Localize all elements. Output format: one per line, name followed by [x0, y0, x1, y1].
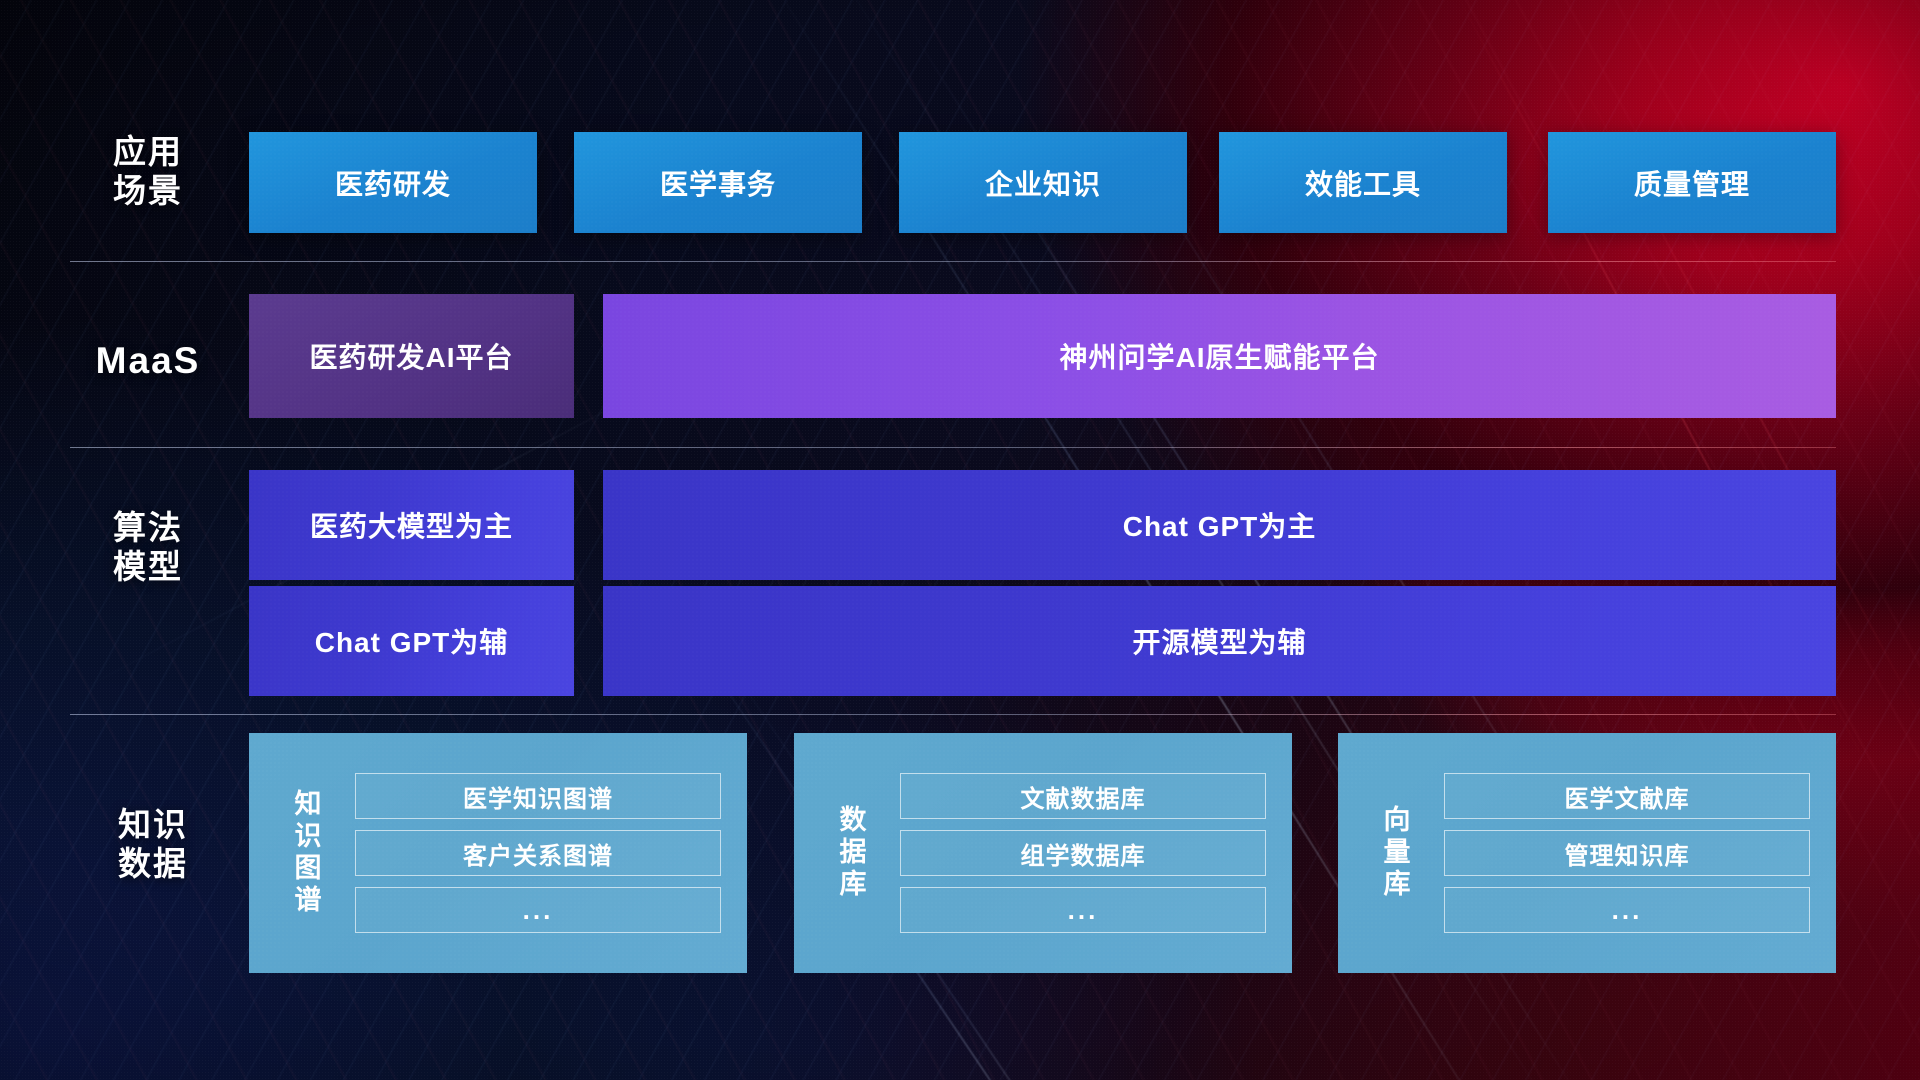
row-label-algorithm-models: 算法 模型: [78, 509, 218, 587]
knowledge-item[interactable]: 医学文献库: [1444, 773, 1810, 819]
app-box-pharma-rd[interactable]: 医药研发: [249, 132, 537, 233]
knowledge-item-more[interactable]: ...: [900, 887, 1266, 933]
knowledge-group-title-char: 据: [822, 837, 884, 869]
app-box-enterprise-knowledge[interactable]: 企业知识: [899, 132, 1187, 233]
algo-box-chatgpt-primary[interactable]: Chat GPT为主: [603, 470, 1836, 580]
app-box-label: 效能工具: [1305, 163, 1421, 203]
knowledge-group-item-list: 医学文献库 管理知识库 ...: [1428, 757, 1836, 949]
knowledge-item[interactable]: 管理知识库: [1444, 830, 1810, 876]
algo-box-opensource-model-secondary[interactable]: 开源模型为辅: [603, 586, 1836, 696]
app-box-efficiency-tools[interactable]: 效能工具: [1219, 132, 1507, 233]
row-label-maas: MaaS: [78, 339, 218, 383]
algo-box-label: 开源模型为辅: [1132, 621, 1306, 661]
knowledge-group-title-char: 向: [1366, 805, 1428, 837]
row-label-line-2: 模型: [78, 548, 218, 587]
app-box-medical-affairs[interactable]: 医学事务: [574, 132, 862, 233]
knowledge-group-knowledge-graph[interactable]: 知 识 图 谱 医学知识图谱 客户关系图谱 ...: [249, 733, 747, 973]
row-label-knowledge-data: 知识 数据: [78, 806, 228, 884]
knowledge-group-title-char: 量: [1366, 837, 1428, 869]
row-label-line-2: 场景: [78, 172, 218, 211]
knowledge-group-database[interactable]: 数 据 库 文献数据库 组学数据库 ...: [794, 733, 1292, 973]
divider-after-applications: [70, 261, 1836, 262]
row-label-line-1: 知识: [78, 806, 228, 845]
maas-box-label: 神州问学AI原生赋能平台: [1059, 336, 1379, 376]
row-label-line-2: 数据: [78, 845, 228, 884]
row-label-line-1: MaaS: [78, 339, 218, 383]
algo-box-chatgpt-secondary[interactable]: Chat GPT为辅: [249, 586, 574, 696]
app-box-quality-management[interactable]: 质量管理: [1548, 132, 1836, 233]
algo-box-label: 医药大模型为主: [310, 505, 513, 545]
app-box-label: 质量管理: [1634, 163, 1750, 203]
maas-box-label: 医药研发AI平台: [309, 336, 513, 376]
algo-box-label: Chat GPT为主: [1123, 505, 1317, 545]
app-box-label: 医药研发: [335, 163, 451, 203]
divider-after-algorithms: [70, 714, 1836, 715]
row-label-line-1: 算法: [78, 509, 218, 548]
knowledge-item[interactable]: 客户关系图谱: [355, 830, 721, 876]
knowledge-group-title-char: 谱: [277, 885, 339, 917]
knowledge-group-title-char: 识: [277, 821, 339, 853]
algo-box-label: Chat GPT为辅: [315, 621, 509, 661]
row-label-application-scenarios: 应用 场景: [78, 133, 218, 211]
knowledge-group-title-char: 图: [277, 853, 339, 885]
knowledge-item[interactable]: 医学知识图谱: [355, 773, 721, 819]
maas-box-shenzhou-wenxue-platform[interactable]: 神州问学AI原生赋能平台: [603, 294, 1836, 418]
knowledge-group-title: 知 识 图 谱: [277, 789, 339, 916]
app-box-label: 医学事务: [660, 163, 776, 203]
knowledge-group-title-char: 数: [822, 805, 884, 837]
knowledge-item-more[interactable]: ...: [355, 887, 721, 933]
knowledge-group-title: 数 据 库: [822, 805, 884, 901]
knowledge-item[interactable]: 文献数据库: [900, 773, 1266, 819]
knowledge-group-title-char: 库: [1366, 869, 1428, 901]
maas-box-pharma-ai-platform[interactable]: 医药研发AI平台: [249, 294, 574, 418]
knowledge-group-item-list: 医学知识图谱 客户关系图谱 ...: [339, 757, 747, 949]
architecture-diagram: 应用 场景 医药研发 医学事务 企业知识 效能工具 质量管理 MaaS 医药研发…: [0, 0, 1920, 1080]
divider-after-maas: [70, 447, 1836, 448]
knowledge-group-item-list: 文献数据库 组学数据库 ...: [884, 757, 1292, 949]
knowledge-item-more[interactable]: ...: [1444, 887, 1810, 933]
knowledge-item[interactable]: 组学数据库: [900, 830, 1266, 876]
knowledge-group-title-char: 知: [277, 789, 339, 821]
row-label-line-1: 应用: [78, 133, 218, 172]
knowledge-group-title-char: 库: [822, 869, 884, 901]
knowledge-group-vector-store[interactable]: 向 量 库 医学文献库 管理知识库 ...: [1338, 733, 1836, 973]
algo-box-pharma-large-model-primary[interactable]: 医药大模型为主: [249, 470, 574, 580]
knowledge-group-title: 向 量 库: [1366, 805, 1428, 901]
app-box-label: 企业知识: [985, 163, 1101, 203]
